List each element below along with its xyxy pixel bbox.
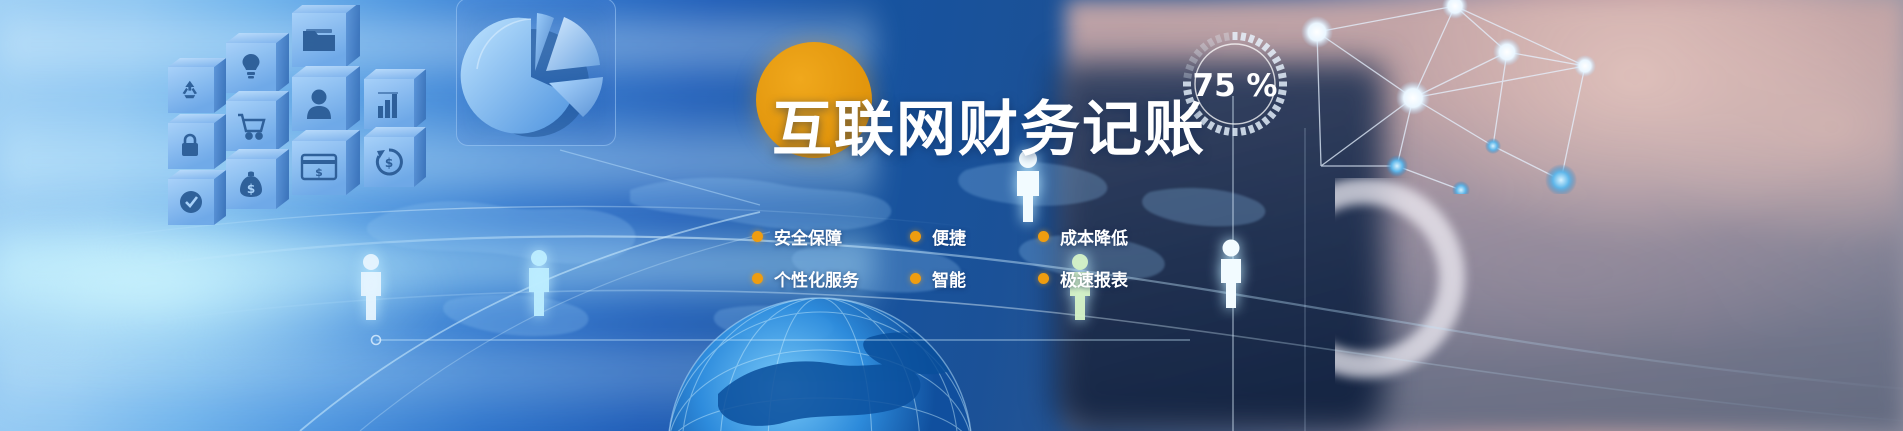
page-title: 互联网财务记账 [772,100,1206,160]
person-silhouette [356,252,386,322]
feature-item: 个性化服务 [752,266,910,291]
feature-label: 智能 [932,266,966,291]
person-silhouette [1215,238,1247,310]
bullet-dot-icon [1038,273,1049,284]
bullet-dot-icon [752,273,763,284]
feature-item: 极速报表 [1038,266,1128,291]
feature-label: 安全保障 [774,224,842,249]
svg-text:$: $ [385,156,393,170]
feature-item: 智能 [910,266,1038,291]
feature-label: 极速报表 [1060,266,1128,291]
feature-item: 成本降低 [1038,224,1128,249]
icon-cube-grid: $ [150,5,440,235]
pie-chart-panel [456,0,616,146]
feature-label: 个性化服务 [774,266,859,291]
feature-label: 便捷 [932,224,966,249]
hero-banner: $ [0,0,1903,431]
bullet-dot-icon [910,231,921,242]
pie-chart [457,0,617,147]
bullet-dot-icon [1038,231,1049,242]
feature-list: 安全保障 便捷 成本降低 个性化服务 智能 极速报表 [752,215,1128,299]
feature-item: 便捷 [910,224,1038,249]
network-node-graph [1285,0,1615,194]
globe-graphic [660,290,980,431]
svg-text:$: $ [315,166,323,179]
feature-label: 成本降低 [1060,224,1128,249]
svg-text:$: $ [247,182,255,196]
bullet-dot-icon [910,273,921,284]
feature-item: 安全保障 [752,224,910,249]
bullet-dot-icon [752,231,763,242]
person-silhouette [524,248,554,318]
